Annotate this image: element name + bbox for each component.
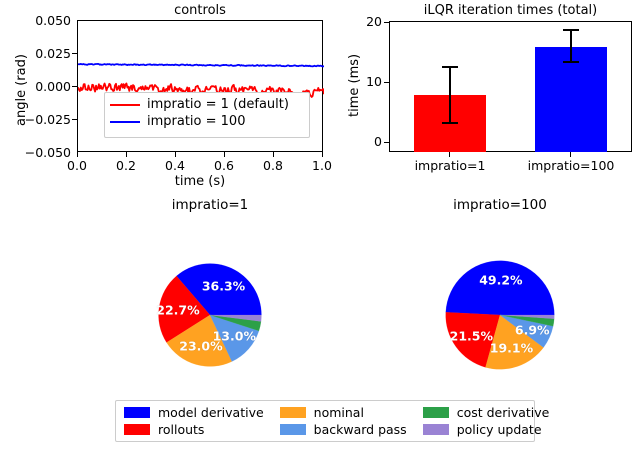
legend-swatch-rollouts xyxy=(124,424,150,435)
controls-xtickmark xyxy=(126,152,127,157)
controls-ytick-3: −0.025 xyxy=(1,112,71,127)
pie-slice-value: 19.1% xyxy=(490,341,533,356)
controls-ytick-0: 0.050 xyxy=(5,13,71,28)
legend-label-nominal: nominal xyxy=(314,405,364,420)
figure-canvas: controls 0.050 0.025 0.000 −0.025 −0.050… xyxy=(0,0,640,450)
legend-item-rollouts: rollouts xyxy=(124,422,264,437)
ilqr-ytick-0: 20 xyxy=(348,14,382,29)
controls-ytickmark xyxy=(72,119,77,120)
legend-swatch-nominal xyxy=(280,407,306,418)
ilqr-xtickmark xyxy=(570,152,571,157)
legend-label-policy-update: policy update xyxy=(457,422,542,437)
controls-xtick-5: 1.0 xyxy=(302,158,342,173)
ilqr-xtick-impratio-100: impratio=100 xyxy=(511,158,631,173)
controls-chart-title: controls xyxy=(77,3,323,18)
legend-label-cost-derivative: cost derivative xyxy=(457,405,550,420)
ilqr-ytickmark xyxy=(384,22,389,23)
legend-item-policy-update: policy update xyxy=(423,422,550,437)
controls-xtickmark xyxy=(322,152,323,157)
legend-swatch-model-derivative xyxy=(124,407,150,418)
controls-ytickmark xyxy=(72,53,77,54)
legend-swatch-backward-pass xyxy=(280,424,306,435)
pie2-title: impratio=100 xyxy=(420,197,580,213)
controls-ytickmark xyxy=(72,86,77,87)
controls-yaxis-label: angle (rad) xyxy=(14,54,29,126)
pie1-value-labels: 36.3%22.7%23.0%13.0% xyxy=(156,261,264,369)
legend-label-rollouts: rollouts xyxy=(158,422,204,437)
pie1-title: impratio=1 xyxy=(130,197,290,213)
legend-label-backward-pass: backward pass xyxy=(314,422,407,437)
ilqr-xtickmark xyxy=(449,152,450,157)
controls-xtick-0: 0.0 xyxy=(57,158,97,173)
pie-slice-value: 49.2% xyxy=(479,272,522,287)
controls-xtick-1: 0.2 xyxy=(106,158,146,173)
legend-item-cost-derivative: cost derivative xyxy=(423,405,550,420)
legend-label: impratio = 100 xyxy=(147,114,245,129)
pie2-value-labels: 49.2%21.5%19.1%6.9% xyxy=(443,258,557,372)
legend-label: impratio = 1 (default) xyxy=(147,97,289,112)
controls-xtick-3: 0.6 xyxy=(204,158,244,173)
legend-label-model-derivative: model derivative xyxy=(158,405,264,420)
legend-swatch-policy-update xyxy=(423,424,449,435)
controls-xtick-4: 0.8 xyxy=(253,158,293,173)
controls-legend: impratio = 1 (default) impratio = 100 xyxy=(104,92,310,138)
legend-item-impratio-1: impratio = 1 (default) xyxy=(110,96,304,113)
pie-slice-value: 21.5% xyxy=(450,328,493,343)
errorbar-impratio-100-cap-bottom xyxy=(563,61,579,63)
pie-slice-value: 36.3% xyxy=(202,278,245,293)
errorbar-impratio-1-cap-top xyxy=(442,66,458,68)
errorbar-impratio-100-vline xyxy=(570,30,572,62)
legend-line-swatch xyxy=(110,104,140,106)
errorbar-impratio-1-vline xyxy=(449,67,451,123)
legend-item-impratio-100: impratio = 100 xyxy=(110,113,304,130)
ilqr-ytickmark xyxy=(384,82,389,83)
pie-slice-value: 13.0% xyxy=(213,329,256,344)
legend-item-backward-pass: backward pass xyxy=(280,422,407,437)
ilqr-chart-title: iLQR iteration times (total) xyxy=(389,3,632,18)
errorbar-impratio-1-cap-bottom xyxy=(442,122,458,124)
controls-xtickmark xyxy=(224,152,225,157)
controls-xtickmark xyxy=(273,152,274,157)
ilqr-xtick-impratio-1: impratio=1 xyxy=(390,158,510,173)
controls-xaxis-label: time (s) xyxy=(77,174,323,189)
controls-xtickmark xyxy=(77,152,78,157)
pie-slice-value: 22.7% xyxy=(156,303,199,318)
legend-swatch-cost-derivative xyxy=(423,407,449,418)
controls-xtickmark xyxy=(175,152,176,157)
controls-xtick-2: 0.4 xyxy=(155,158,195,173)
legend-item-model-derivative: model derivative xyxy=(124,405,264,420)
shared-legend: model derivative nominal cost derivative… xyxy=(115,400,535,442)
errorbar-impratio-100-cap-top xyxy=(563,29,579,31)
ilqr-yaxis-label: time (ms) xyxy=(347,54,362,117)
legend-item-nominal: nominal xyxy=(280,405,407,420)
ilqr-ytick-2: 0 xyxy=(348,134,382,149)
pie-slice-value: 6.9% xyxy=(515,322,550,337)
ilqr-ytickmark xyxy=(384,142,389,143)
legend-line-swatch xyxy=(110,121,140,123)
